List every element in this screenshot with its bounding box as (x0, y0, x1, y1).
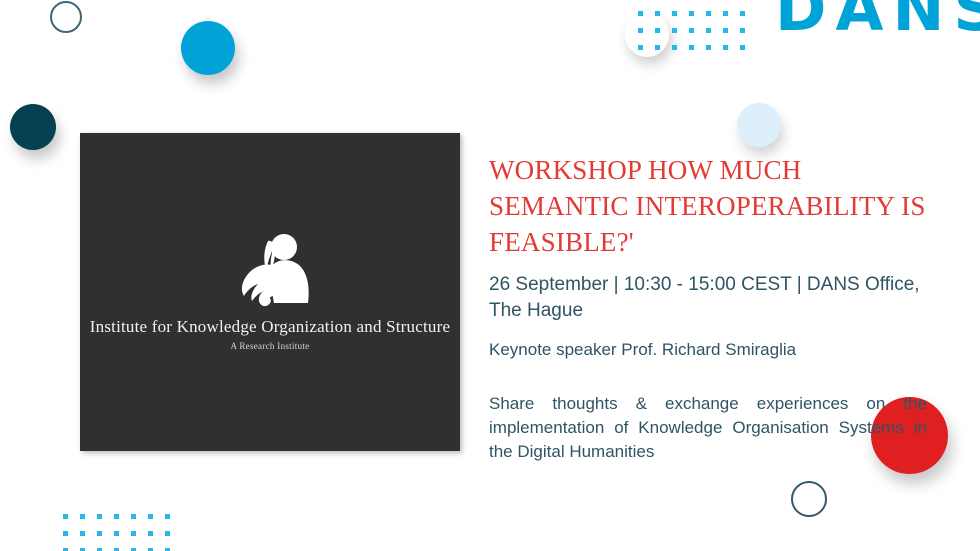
institute-figure-icon (218, 233, 322, 311)
decorative-ring-bottom-right (791, 481, 827, 517)
institute-logo-panel: Institute for Knowledge Organization and… (80, 133, 460, 451)
decorative-ring-top-left (50, 1, 82, 33)
decorative-dot-grid-bottom (63, 514, 170, 551)
decorative-dot-grid-top (638, 11, 745, 50)
decorative-circle-cyan (181, 21, 235, 75)
institute-name: Institute for Knowledge Organization and… (90, 317, 450, 337)
dans-logo: DANS (775, 0, 980, 44)
keynote-speaker: Keynote speaker Prof. Richard Smiraglia (489, 338, 927, 362)
event-details: 26 September | 10:30 - 15:00 CEST | DANS… (489, 272, 927, 324)
institute-tagline: A Research Institute (231, 341, 310, 351)
workshop-headline: WORKSHOP HOW MUCH SEMANTIC INTEROPERABIL… (489, 152, 927, 260)
decorative-circle-dark-teal (10, 104, 56, 150)
announcement-text-column: WORKSHOP HOW MUCH SEMANTIC INTEROPERABIL… (489, 152, 927, 464)
workshop-announcement-banner: DANS Institute for Knowledge Organizatio… (0, 0, 980, 551)
decorative-circle-pale-blue (737, 103, 781, 147)
workshop-description: Share thoughts & exchange experiences on… (489, 392, 927, 464)
